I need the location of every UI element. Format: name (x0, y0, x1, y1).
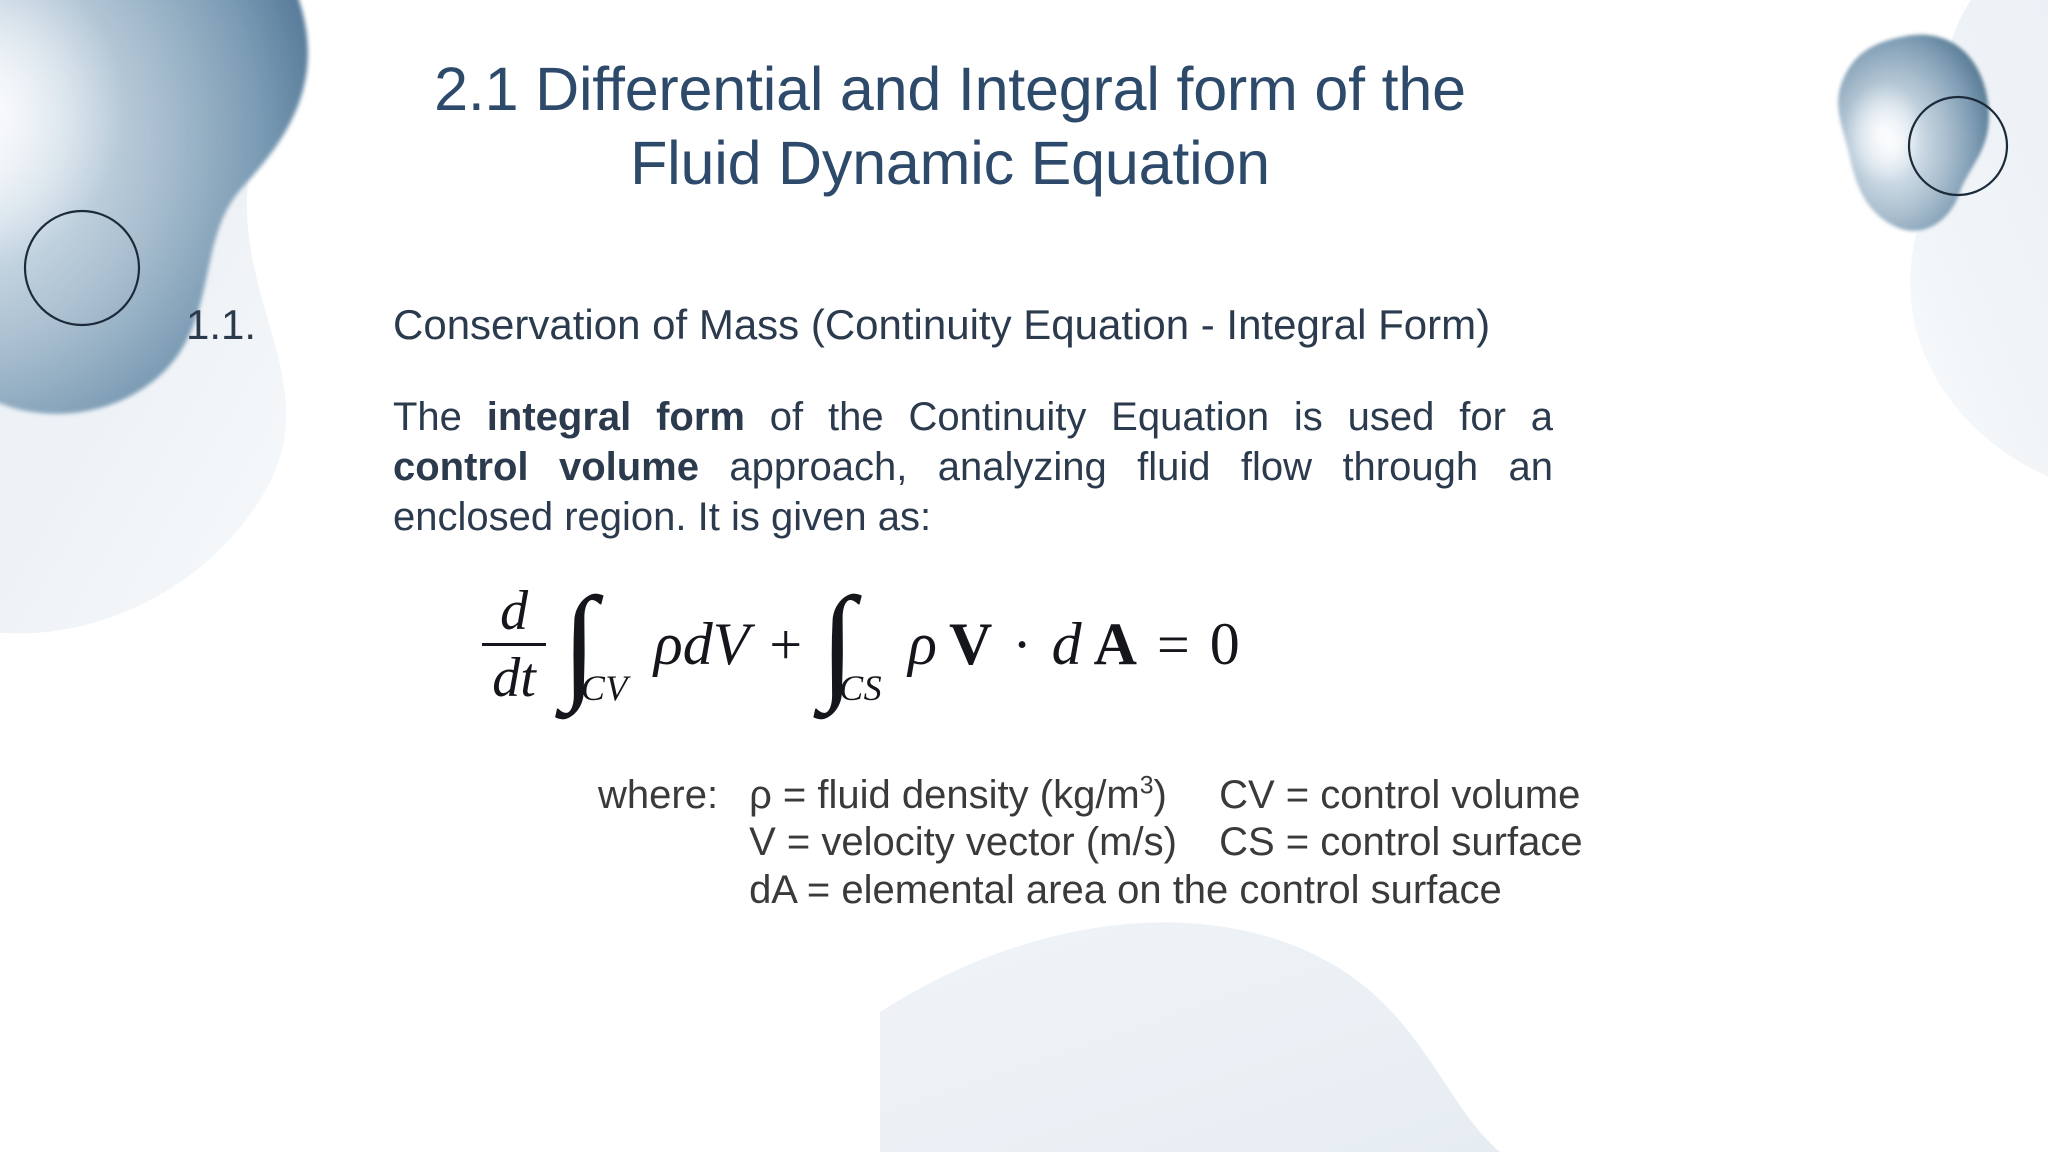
body-paragraph: The integral form of the Continuity Equa… (393, 392, 1553, 542)
equals-operator: = (1157, 611, 1190, 678)
section-number: 1.1. (186, 300, 393, 350)
title-line-1: 2.1 Differential and Integral form of th… (250, 52, 1650, 126)
equation-result: 0 (1210, 610, 1240, 679)
where-legend: where: ρ = fluid density (kg/m3) CV = co… (0, 772, 2048, 914)
definition-elemental-area: dA = elemental area on the control surfa… (749, 867, 1502, 914)
cubic-meter-exponent: 3 (1140, 773, 1154, 800)
fluid-blob-top-right (1810, 20, 2020, 270)
definition-control-volume: CV = control volume (1219, 772, 1580, 819)
plus-operator: + (769, 611, 802, 678)
definition-velocity: V = velocity vector (m/s) (749, 819, 1219, 866)
equation-container: d dt ∫ CV ρdV + ∫ CS ρ V · d A = (0, 582, 2048, 709)
definition-density-text: ρ = fluid density (kg/m (749, 773, 1140, 817)
integral-cs: ∫ CS (820, 595, 898, 695)
definition-row: V = velocity vector (m/s) CS = control s… (749, 819, 2048, 866)
section-heading-label: Conservation of Mass (Continuity Equatio… (393, 300, 2048, 350)
page-title: 2.1 Differential and Integral form of th… (250, 52, 1650, 201)
definition-density-tail: ) (1154, 773, 1167, 817)
integral-cv-subscript: CV (581, 667, 628, 709)
definition-row: dA = elemental area on the control surfa… (749, 867, 2048, 914)
integrand-rho: ρ (908, 610, 937, 679)
fraction-numerator: d (490, 582, 538, 644)
dot-product-operator: · (1012, 611, 1031, 678)
title-line-2: Fluid Dynamic Equation (250, 126, 1650, 200)
area-vector-symbol: A (1094, 610, 1137, 679)
integral-cv: ∫ CV (562, 595, 644, 695)
paragraph-bold-integral-form: integral form (487, 395, 745, 439)
outline-circle-top-right (1906, 94, 2010, 198)
differential-d: d (1052, 610, 1082, 679)
integrand-rho-dv: ρdV (654, 610, 749, 679)
slide-canvas: 2.1 Differential and Integral form of th… (0, 0, 2048, 1152)
where-definitions: ρ = fluid density (kg/m3) CV = control v… (749, 772, 2048, 914)
definition-density: ρ = fluid density (kg/m3) (749, 772, 1219, 819)
derivative-fraction: d dt (482, 582, 546, 709)
fraction-denominator: dt (482, 643, 546, 708)
paragraph-part-2: of the Continuity Equation is used for a (745, 395, 1553, 439)
section-heading-row: 1.1. Conservation of Mass (Continuity Eq… (0, 300, 2048, 350)
integral-cs-subscript: CS (839, 667, 882, 709)
definition-velocity-text: V = velocity vector (m/s) (749, 820, 1177, 864)
paragraph-bold-control-volume: control volume (393, 445, 699, 489)
velocity-vector-symbol: V (949, 610, 992, 679)
definition-control-surface: CS = control surface (1219, 819, 1583, 866)
definition-row: ρ = fluid density (kg/m3) CV = control v… (749, 772, 2048, 819)
continuity-equation: d dt ∫ CV ρdV + ∫ CS ρ V · d A = (482, 582, 1245, 709)
where-label: where: (598, 772, 749, 914)
slide-content: 1.1. Conservation of Mass (Continuity Eq… (0, 300, 2048, 914)
paragraph-part-1: The (393, 395, 487, 439)
